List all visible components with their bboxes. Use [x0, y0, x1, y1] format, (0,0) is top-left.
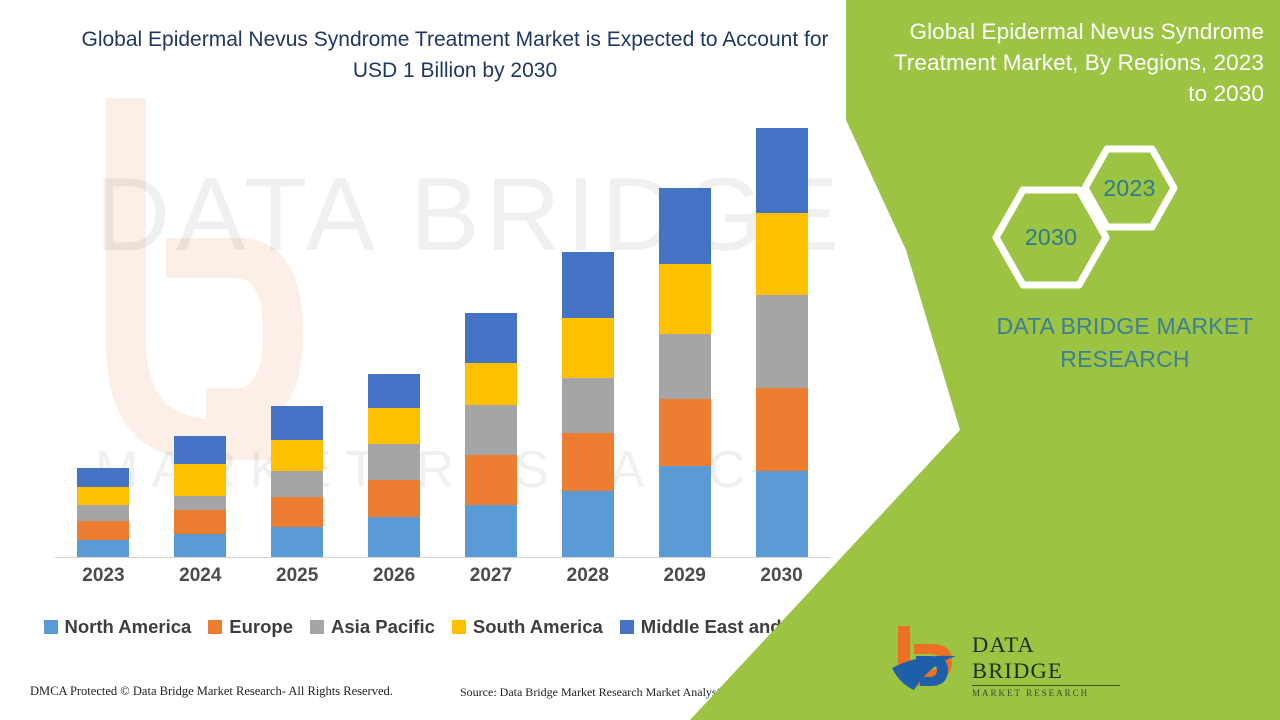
- bar-segment: [368, 444, 420, 480]
- bar-segment: [756, 471, 808, 557]
- hexagon-label-2023: 2023: [1081, 145, 1178, 231]
- bar-segment: [659, 399, 711, 466]
- stacked-bar: [271, 406, 323, 557]
- chart-title: Global Epidermal Nevus Syndrome Treatmen…: [60, 24, 850, 86]
- bar-column: [55, 120, 152, 557]
- stacked-bar: [174, 436, 226, 557]
- legend-item[interactable]: Asia Pacific: [310, 616, 435, 638]
- bar-segment: [77, 487, 129, 505]
- legend-item[interactable]: North America: [44, 616, 192, 638]
- logo-main-text: DATA BRIDGE: [972, 632, 1120, 684]
- bar-segment: [174, 496, 226, 510]
- legend-item[interactable]: Europe: [208, 616, 293, 638]
- x-axis-tick-label: 2026: [346, 565, 443, 587]
- bar-group: [55, 120, 830, 557]
- bar-column: [249, 120, 346, 557]
- data-bridge-logo-icon: [890, 624, 964, 692]
- x-axis-labels: 20232024202520262027202820292030: [55, 565, 830, 587]
- stacked-bar: [77, 468, 129, 557]
- infographic-root: DATA BRIDGE MARKET RESEARCH Global Epide…: [0, 0, 1280, 720]
- bar-segment: [562, 433, 614, 492]
- bar-segment: [271, 497, 323, 527]
- logo-wordmark: DATA BRIDGE MARKET RESEARCH: [972, 632, 1120, 698]
- bar-segment: [465, 455, 517, 506]
- panel-title: Global Epidermal Nevus Syndrome Treatmen…: [872, 16, 1264, 109]
- bar-segment: [77, 540, 129, 557]
- footer-copyright: DMCA Protected © Data Bridge Market Rese…: [30, 684, 393, 699]
- bar-segment: [659, 264, 711, 334]
- bar-segment: [368, 374, 420, 407]
- x-axis-tick-label: 2025: [249, 565, 346, 587]
- bar-segment: [271, 527, 323, 557]
- x-axis-tick-label: 2027: [443, 565, 540, 587]
- legend-label: South America: [473, 616, 603, 638]
- bar-column: [636, 120, 733, 557]
- bar-column: [152, 120, 249, 557]
- legend-label: Europe: [229, 616, 293, 638]
- x-axis-tick-label: 2024: [152, 565, 249, 587]
- bar-segment: [562, 378, 614, 433]
- bar-segment: [465, 405, 517, 454]
- legend-swatch-icon: [310, 620, 324, 634]
- x-axis-tick-label: 2028: [539, 565, 636, 587]
- bar-segment: [756, 128, 808, 213]
- legend-swatch-icon: [452, 620, 466, 634]
- logo-sub-text: MARKET RESEARCH: [972, 688, 1120, 698]
- company-logo: DATA BRIDGE MARKET RESEARCH: [890, 622, 1120, 694]
- bar-segment: [174, 436, 226, 464]
- legend-label: Asia Pacific: [331, 616, 435, 638]
- bar-segment: [659, 188, 711, 264]
- plot-region: [55, 120, 830, 558]
- stacked-bar: [659, 188, 711, 557]
- bar-segment: [368, 480, 420, 517]
- legend-swatch-icon: [208, 620, 222, 634]
- hexagon-badge-2023: 2023: [1081, 145, 1178, 231]
- bar-segment: [271, 406, 323, 439]
- stacked-bar: [756, 128, 808, 557]
- bar-segment: [465, 363, 517, 406]
- chart-panel: DATA BRIDGE MARKET RESEARCH Global Epide…: [0, 0, 860, 720]
- bar-segment: [756, 295, 808, 388]
- bar-segment: [271, 440, 323, 471]
- x-axis-line: [55, 557, 830, 558]
- bar-column: [539, 120, 636, 557]
- bar-column: [346, 120, 443, 557]
- bar-segment: [77, 505, 129, 521]
- bar-segment: [174, 464, 226, 496]
- bar-segment: [659, 334, 711, 400]
- x-axis-tick-label: 2030: [733, 565, 830, 587]
- bar-segment: [174, 510, 226, 534]
- bar-segment: [271, 471, 323, 497]
- bar-segment: [77, 521, 129, 539]
- legend-item[interactable]: South America: [452, 616, 603, 638]
- stacked-bar: [465, 313, 517, 557]
- legend-label: North America: [65, 616, 192, 638]
- stacked-bar: [562, 252, 614, 557]
- bar-segment: [368, 408, 420, 445]
- bar-segment: [562, 252, 614, 318]
- bar-segment: [756, 388, 808, 471]
- x-axis-tick-label: 2029: [636, 565, 733, 587]
- bar-column: [443, 120, 540, 557]
- stacked-bar: [368, 374, 420, 557]
- bar-column: [733, 120, 830, 557]
- panel-brand-text: DATA BRIDGE MARKET RESEARCH: [975, 310, 1275, 376]
- bar-segment: [465, 505, 517, 557]
- bar-segment: [465, 313, 517, 362]
- bar-segment: [562, 318, 614, 378]
- logo-divider: [972, 685, 1120, 686]
- bar-segment: [659, 466, 711, 557]
- bar-segment: [77, 468, 129, 486]
- chart-legend: North AmericaEuropeAsia PacificSouth Ame…: [46, 616, 836, 638]
- x-axis-tick-label: 2023: [55, 565, 152, 587]
- legend-swatch-icon: [620, 620, 634, 634]
- legend-swatch-icon: [44, 620, 58, 634]
- bar-segment: [174, 534, 226, 557]
- bar-segment: [562, 491, 614, 557]
- bar-segment: [756, 213, 808, 295]
- bar-segment: [368, 517, 420, 557]
